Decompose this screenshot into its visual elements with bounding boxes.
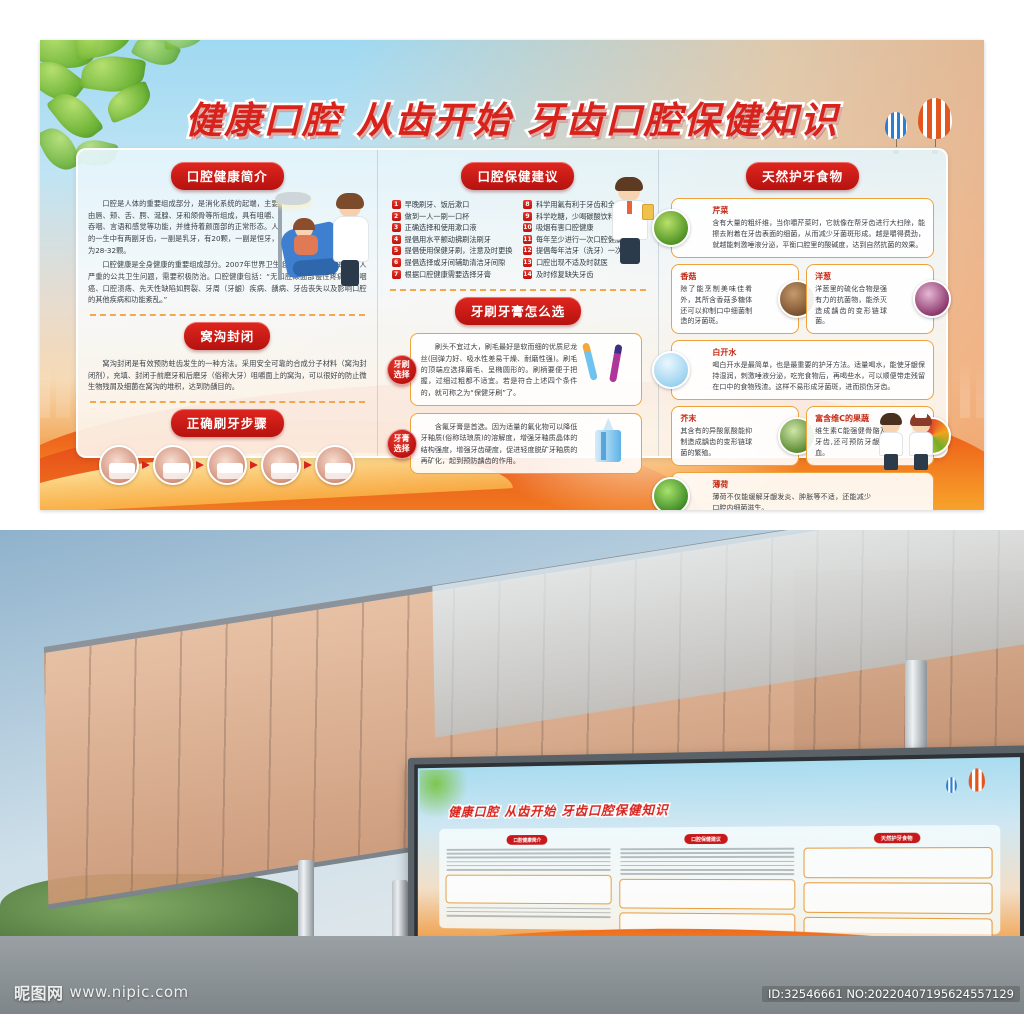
list-number: 11 (523, 235, 532, 244)
brushing-steps-row (88, 445, 367, 485)
list-number: 4 (392, 235, 401, 244)
food-name: 白开水 (712, 347, 925, 358)
arrow-right-icon (250, 461, 258, 469)
food-name: 薄荷 (712, 479, 871, 490)
celery-icon (652, 209, 690, 247)
food-desc: 含有大量的粗纤维，当你嚼芹菜时，它就像在帮牙齿进行大扫除，能擦去附着在牙齿表面的… (712, 218, 925, 251)
billboard-badge-intro: 口腔健康简介 (507, 835, 548, 845)
list-item-label: 根据口腔健康需要选择牙膏 (405, 270, 491, 279)
list-number: 7 (392, 270, 401, 279)
brush-step-1-icon (99, 445, 139, 485)
section-badge-steps: 正确刷牙步骤 (171, 409, 284, 437)
list-item-label: 正确选择和使用漱口液 (405, 223, 477, 232)
content-card: 口腔健康简介 口腔是人体的重要组成部分，是消化系统的起端，主要由唇、颊、舌、腭、… (76, 148, 948, 458)
photo-mockup: 健康口腔 从齿开始 牙齿口腔保健知识 口腔健康简介 口腔保健建议 (0, 530, 1024, 1014)
mint-icon (652, 477, 690, 510)
toothbrush-choice-text: 刷头不宜过大，刷毛最好是软而细的优质尼龙丝(回弹力好、吸水性差易干燥、耐磨性强)… (421, 341, 578, 398)
asset-id-text: ID:32546661 NO:20220407195624557129 (762, 986, 1020, 1002)
advice-list-left: 1早晚刷牙、饭后漱口 2做到一人一刷一口杯 3正确选择和使用漱口液 4提倡用水平… (392, 200, 515, 281)
sealant-paragraph: 窝沟封闭是有效预防蛀齿发生的一种方法。采用安全可靠的合成分子材料（窝沟封闭剂），… (88, 358, 367, 393)
list-number: 13 (523, 258, 532, 267)
arrow-right-icon (196, 461, 204, 469)
list-item: 3正确选择和使用漱口液 (392, 223, 515, 232)
tag-line-1: 牙刷 (394, 360, 410, 370)
section-badge-intro: 口腔健康简介 (171, 162, 284, 190)
list-number: 2 (392, 212, 401, 221)
food-name: 洋葱 (815, 271, 887, 282)
list-item-label: 科学吃糖，少喝碳酸饮料 (536, 212, 615, 221)
list-number: 12 (523, 246, 532, 255)
arrow-right-icon (142, 461, 150, 469)
poster-preview-area: 健康口腔 从齿开始 牙齿口腔保健知识 口腔健康简介 (0, 0, 1024, 530)
list-number: 3 (392, 223, 401, 232)
food-row: 香菇 除了能烹制美味佳肴外，其所含香菇多糖体还可以抑制口中细菌制造的牙菌斑。 洋… (671, 264, 934, 341)
food-name: 芥末 (680, 413, 752, 424)
tag-line-2: 选择 (394, 370, 410, 380)
list-item-label: 口腔出现不适及时就医 (536, 258, 608, 267)
billboard-content-card: 口腔健康简介 口腔保健建议 天然护牙食物 (439, 825, 1000, 934)
section-badge-foods: 天然护牙食物 (746, 162, 859, 190)
list-number: 6 (392, 258, 401, 267)
page-title: 健康口腔 从齿开始 牙齿口腔保健知识 (185, 90, 839, 144)
tag-line-2: 选择 (394, 444, 410, 454)
billboard-box (804, 847, 993, 879)
billboard-box (804, 882, 993, 914)
water-glass-icon (652, 351, 690, 389)
toothpaste-choice-text: 含氟牙膏是首选。因为适量的氟化物可以降低牙釉质(俗称珐琅质)的溶解度，增强牙釉质… (421, 421, 578, 466)
balloon-blue-icon (885, 112, 907, 146)
billboard-column-left: 口腔健康简介 (444, 833, 613, 926)
list-item-label: 提倡用水平颤动拂刷法刷牙 (405, 235, 491, 244)
toothpaste-tube-icon (587, 418, 631, 464)
food-desc: 薄荷不仅能缓解牙龈发炎、肿胀等不适，还能减少口腔内细菌滋生。 (712, 492, 871, 510)
food-card-mint: 薄荷 薄荷不仅能缓解牙龈发炎、肿胀等不适，还能减少口腔内细菌滋生。 (671, 472, 934, 510)
list-number: 9 (523, 212, 532, 221)
poster-artwork: 健康口腔 从齿开始 牙齿口腔保健知识 口腔健康简介 (40, 40, 984, 510)
arrow-right-icon (304, 461, 312, 469)
list-item-label: 吸烟有害口腔健康 (536, 223, 594, 232)
billboard-box (446, 874, 612, 904)
watermark-url: www.nipic.com (70, 983, 189, 1001)
watermark-brand: 昵图网 (14, 980, 64, 1004)
food-desc: 除了能烹制美味佳肴外，其所含香菇多糖体还可以抑制口中细菌制造的牙菌斑。 (680, 284, 752, 328)
toothpaste-choice-tag: 牙膏 选择 (387, 429, 417, 459)
list-item-label: 及时修复缺失牙齿 (536, 270, 594, 279)
toothbrush-choice-box: 牙刷 选择 刷头不宜过大，刷毛最好是软而细的优质尼龙丝(回弹力好、吸水性差易干燥… (410, 333, 643, 406)
balloon-orange-icon (969, 768, 985, 791)
brush-step-2-icon (153, 445, 193, 485)
toothbrush-choice-tag: 牙刷 选择 (387, 355, 417, 385)
billboard-box (619, 879, 796, 910)
food-card-mustard: 芥末 其含有的异酸氰酸能抑制造成龋齿的变形链球菌的繁殖。 (671, 406, 799, 466)
onion-icon (913, 280, 951, 318)
divider (90, 314, 365, 316)
billboard-title: 健康口腔 从齿开始 牙齿口腔保健知识 (448, 799, 668, 820)
list-item-label: 早晚刷牙、饭后漱口 (405, 200, 470, 209)
food-card-mushroom: 香菇 除了能烹制美味佳肴外，其所含香菇多糖体还可以抑制口中细菌制造的牙菌斑。 (671, 264, 799, 335)
brush-step-4-icon (261, 445, 301, 485)
watermark: 昵图网 www.nipic.com (14, 980, 189, 1004)
food-name: 富含维C的果蔬 (815, 413, 887, 424)
list-item-label: 提倡使用保健牙刷，注意及时更换 (405, 246, 513, 255)
food-card-water: 白开水 喝白开水是最简单，也是最重要的护牙方法。适量喝水，能使牙龈保持湿润，刺激… (671, 340, 934, 400)
page-root: 健康口腔 从齿开始 牙齿口腔保健知识 口腔健康简介 (0, 0, 1024, 1014)
brush-step-5-icon (315, 445, 355, 485)
tag-line-1: 牙膏 (394, 434, 410, 444)
food-card-celery: 芹菜 含有大量的粗纤维，当你嚼芹菜时，它就像在帮牙齿进行大扫除，能擦去附着在牙齿… (671, 198, 934, 258)
doctor-with-clipboard-illustration (608, 180, 652, 266)
doctor-and-nurse-illustration (878, 416, 940, 472)
food-name: 香菇 (680, 271, 752, 282)
column-right: 天然护牙食物 芹菜 含有大量的粗纤维，当你嚼芹菜时，它就像在帮牙齿进行大扫除，能… (659, 150, 946, 456)
list-number: 10 (523, 223, 532, 232)
list-item: 14及时修复缺失牙齿 (523, 270, 646, 279)
intro-paragraph-1: 口腔是人体的重要组成部分，是消化系统的起端，主要由唇、颊、舌、腭、涎腺、牙和颌骨… (88, 198, 279, 256)
divider (90, 401, 365, 403)
list-item: 7根据口腔健康需要选择牙膏 (392, 270, 515, 279)
two-toothbrushes-icon (581, 338, 635, 384)
list-number: 14 (523, 270, 532, 279)
section-badge-advice: 口腔保健建议 (461, 162, 574, 190)
food-name: 芹菜 (712, 205, 925, 216)
balloon-orange-icon (918, 98, 952, 150)
poster-title-row: 健康口腔 从齿开始 牙齿口腔保健知识 (40, 86, 984, 148)
list-number: 5 (392, 246, 401, 255)
list-item: 5提倡使用保健牙刷，注意及时更换 (392, 246, 515, 255)
list-item: 2做到一人一刷一口杯 (392, 212, 515, 221)
list-item: 1早晚刷牙、饭后漱口 (392, 200, 515, 209)
list-number: 8 (523, 200, 532, 209)
list-item: 4提倡用水平颤动拂刷法刷牙 (392, 235, 515, 244)
billboard-column-right: 天然护牙食物 (802, 830, 995, 929)
food-desc: 维生素C能强健骨骼及牙齿,还可预防牙龈出血。 (815, 426, 887, 459)
section-badge-sealant: 窝沟封闭 (184, 322, 270, 350)
text-lines (444, 907, 613, 918)
list-item-label: 做到一人一刷一口杯 (405, 212, 470, 221)
food-desc: 其含有的异酸氰酸能抑制造成龋齿的变形链球菌的繁殖。 (680, 426, 752, 459)
column-middle: 口腔保健建议 1早晚刷牙、饭后漱口 2做到一人一刷一口杯 3正确选择和使用漱口液… (377, 150, 660, 456)
list-item: 6提倡选择或牙间辅助清洁牙间隙 (392, 258, 515, 267)
toothpaste-choice-box: 牙膏 选择 含氟牙膏是首选。因为适量的氟化物可以降低牙釉质(俗称珐琅质)的溶解度… (410, 413, 643, 474)
list-item-label: 提倡选择或牙间辅助清洁牙间隙 (405, 258, 506, 267)
food-desc: 喝白开水是最简单，也是最重要的护牙方法。适量喝水，能使牙龈保持湿润，刺激唾液分泌… (712, 360, 925, 393)
text-lines (444, 848, 613, 870)
text-lines (617, 848, 798, 875)
billboard-badge-foods: 天然护牙食物 (874, 833, 920, 844)
food-desc: 洋葱里的硫化合物是强有力的抗菌物，能杀灭造成龋齿的变形链球菌。 (815, 284, 887, 328)
billboard-badge-advice: 口腔保健建议 (684, 834, 728, 844)
balloon-blue-icon (946, 777, 957, 793)
food-card-onion: 洋葱 洋葱里的硫化合物是强有力的抗菌物，能杀灭造成龋齿的变形链球菌。 (806, 264, 934, 335)
billboard-column-middle: 口腔保健建议 (617, 831, 798, 927)
column-left: 口腔健康简介 口腔是人体的重要组成部分，是消化系统的起端，主要由唇、颊、舌、腭、… (78, 150, 377, 456)
section-badge-choose: 牙刷牙膏怎么选 (455, 297, 582, 325)
brush-step-3-icon (207, 445, 247, 485)
dentist-and-child-illustration (277, 190, 373, 294)
list-number: 1 (392, 200, 401, 209)
divider (390, 289, 647, 291)
